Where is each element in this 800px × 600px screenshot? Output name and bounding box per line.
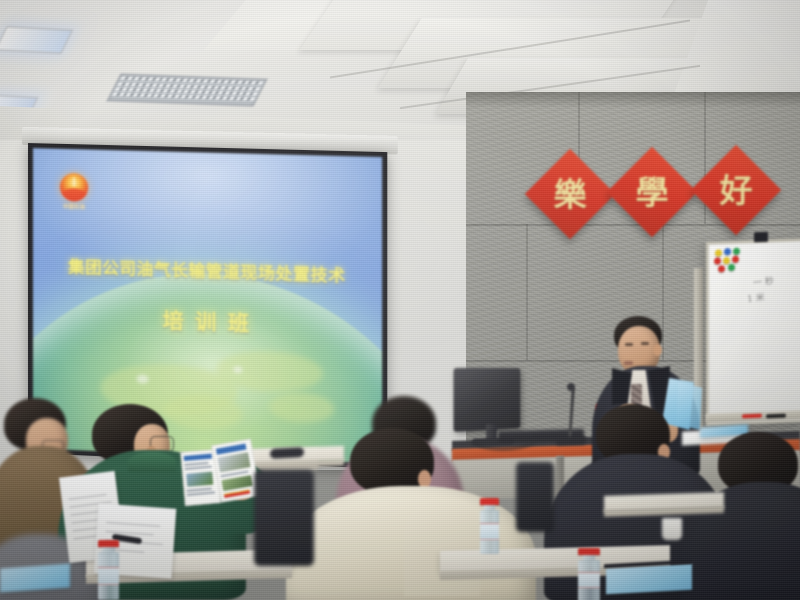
whiteboard-clip[interactable]: [754, 232, 768, 242]
air-vent-icon: [106, 73, 268, 106]
bottle-label: [578, 572, 600, 588]
brochure[interactable]: [178, 439, 259, 505]
handout-pages[interactable]: [676, 382, 702, 430]
petrochina-sun-logo-icon: [60, 173, 88, 202]
magnet-icon[interactable]: [732, 256, 739, 263]
blue-folder[interactable]: [0, 564, 70, 593]
projection-screen: 中国石油 集团公司油气长输管道现场处置技术 培训班: [28, 143, 387, 469]
bottle-label: [98, 567, 119, 585]
wall-top-shadow: [466, 92, 800, 108]
screen-frame: 中国石油 集团公司油气长输管道现场处置技术 培训班: [28, 143, 387, 469]
bottle-body: [578, 560, 600, 600]
magnet-icon[interactable]: [733, 248, 740, 255]
magnet-icon[interactable]: [714, 257, 721, 264]
bottle-cap: [480, 498, 499, 505]
presenter-eye: [641, 342, 649, 345]
magnet-icon[interactable]: [724, 248, 731, 255]
chair[interactable]: [254, 470, 314, 566]
calligraphy-char: 好: [720, 174, 753, 207]
desk-item[interactable]: [270, 447, 304, 459]
photo-scene: 樂 學 好 一 秒 1 米: [0, 0, 800, 600]
presentation-slide: 中国石油 集团公司油气长输管道现场处置技术 培训班: [33, 148, 382, 464]
presenter-eye: [625, 343, 633, 346]
paper-cup[interactable]: [662, 518, 682, 540]
bottle-cap: [98, 540, 119, 547]
water-bottle[interactable]: [98, 540, 119, 600]
bottle-body: [98, 552, 119, 600]
presenter-mouth: [624, 361, 633, 365]
water-bottle[interactable]: [578, 548, 600, 600]
water-bottle[interactable]: [480, 498, 499, 554]
bottle-label: [480, 523, 499, 540]
recessed-light-icon: [0, 26, 73, 54]
bottle-cap: [578, 548, 600, 555]
calligraphy-char: 樂: [554, 178, 587, 211]
logo-text: 中国石油: [57, 203, 91, 211]
chair[interactable]: [516, 462, 554, 532]
bottle-body: [480, 510, 499, 554]
presenter-ear: [653, 344, 662, 356]
whiteboard-note: 一 秒: [753, 274, 775, 289]
calligraphy-char: 學: [636, 176, 669, 209]
magnet-icon[interactable]: [715, 249, 722, 256]
marker-icon[interactable]: [742, 414, 762, 419]
whiteboard-note: 1 米: [747, 290, 765, 305]
whiteboard[interactable]: 一 秒 1 米: [706, 238, 800, 426]
magnet-icon[interactable]: [723, 257, 730, 264]
microphone-base: [556, 436, 586, 446]
blue-folder[interactable]: [606, 564, 692, 595]
magnet-icon[interactable]: [718, 265, 725, 272]
sweater-collar: [128, 452, 176, 472]
monitor[interactable]: [454, 368, 521, 432]
microphone-head-icon: [567, 383, 575, 391]
magnet-icon[interactable]: [728, 264, 735, 271]
attendee-arm: [404, 500, 480, 596]
petrochina-logo: 中国石油: [57, 173, 91, 211]
marker-icon[interactable]: [766, 414, 786, 419]
